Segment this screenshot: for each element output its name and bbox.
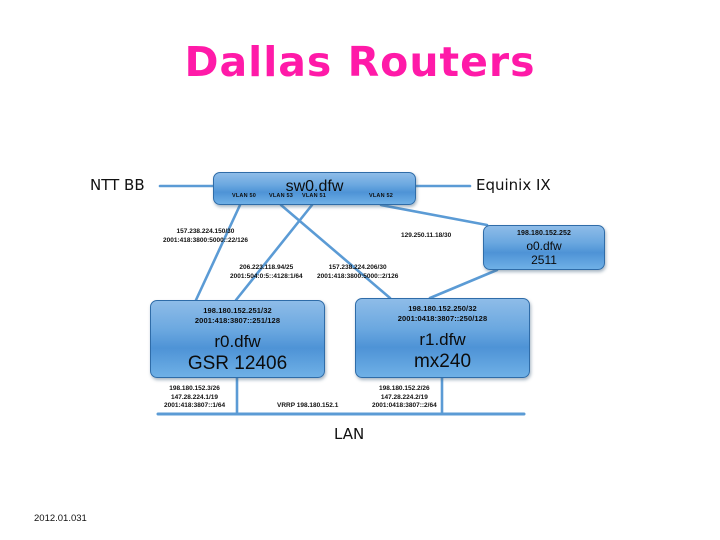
ntt-r1-ipv4: 157.238.224.206/30 <box>317 264 398 273</box>
lan-r1-ipv4-b: 147.28.224.2/19 <box>372 394 437 403</box>
node-router-r1[interactable]: 198.180.152.250/32 2001:0418:3807::250/1… <box>355 298 530 378</box>
vlan-label-51: VLAN 51 <box>302 193 326 199</box>
ntt-r0-ipv6: 2001:418:3800:5000::22/126 <box>163 237 248 246</box>
link-vlan53-r1 <box>281 205 390 298</box>
equinix-r0-ipv6: 2001:504:0:5::4128:1/64 <box>230 273 303 282</box>
r1-ipv6: 2001:0418:3807::250/128 <box>356 314 529 324</box>
lan-r0-ipv6: 2001:418:3807::1/64 <box>164 402 225 411</box>
r1-hostname: r1.dfw <box>356 323 529 350</box>
oob-ip: 198.180.152.252 <box>484 229 604 239</box>
vlan-label-52: VLAN 52 <box>369 193 393 199</box>
link-vlan51-r0 <box>236 205 312 300</box>
link-label-ntt-r0: 157.238.224.150/30 2001:418:3800:5000::2… <box>163 228 248 245</box>
label-lan: LAN <box>334 425 364 443</box>
r0-ipv6: 2001:418:3807::251/128 <box>151 316 324 326</box>
link-vlan52-oob <box>381 205 487 225</box>
node-router-r0[interactable]: 198.180.152.251/32 2001:418:3807::251/12… <box>150 300 325 378</box>
r1-model: mx240 <box>356 350 529 373</box>
vlan-label-53: VLAN 53 <box>269 193 293 199</box>
oob-model: 2511 <box>484 253 604 267</box>
slide-canvas: Dallas Routers sw0.dfw <box>0 0 720 540</box>
link-label-equinix-r0: 206.223.118.94/25 2001:504:0:5::4128:1/6… <box>230 264 303 281</box>
link-oob-r1 <box>430 270 497 298</box>
link-label-lan-r1: 198.180.152.2/26 147.28.224.2/19 2001:04… <box>372 385 437 411</box>
link-label-ntt-oob: 129.250.11.18/30 <box>401 232 451 241</box>
link-label-vrrp: VRRP 198.180.152.1 <box>277 402 338 411</box>
ntt-oob-ipv4: 129.250.11.18/30 <box>401 232 451 241</box>
switch-vlan-labels: VLAN 50 VLAN 53 VLAN 51 VLAN 52 <box>214 193 417 205</box>
node-switch-sw0[interactable]: sw0.dfw VLAN 50 VLAN 53 VLAN 51 VLAN 52 <box>213 172 416 205</box>
label-equinix-ix: Equinix IX <box>476 176 551 194</box>
vlan-label-50: VLAN 50 <box>232 193 256 199</box>
ntt-r1-ipv6: 2001:418:3800:5000::2/126 <box>317 273 398 282</box>
lan-r0-ipv4-b: 147.28.224.1/19 <box>164 394 225 403</box>
label-ntt-backbone: NTT BB <box>90 176 145 194</box>
r0-ipv4: 198.180.152.251/32 <box>151 306 324 316</box>
link-vlan50-r0 <box>196 205 240 300</box>
node-console-o0[interactable]: 198.180.152.252 o0.dfw 2511 <box>483 225 605 270</box>
r0-hostname: r0.dfw <box>151 325 324 352</box>
lan-r1-ipv4: 198.180.152.2/26 <box>372 385 437 394</box>
link-label-ntt-r1: 157.238.224.206/30 2001:418:3800:5000::2… <box>317 264 398 281</box>
r0-model: GSR 12406 <box>151 352 324 375</box>
link-label-lan-r0: 198.180.152.3/26 147.28.224.1/19 2001:41… <box>164 385 225 411</box>
equinix-r0-ipv4: 206.223.118.94/25 <box>230 264 303 273</box>
ntt-r0-ipv4: 157.238.224.150/30 <box>163 228 248 237</box>
lan-r1-ipv6: 2001:0418:3807::2/64 <box>372 402 437 411</box>
r1-ipv4: 198.180.152.250/32 <box>356 304 529 314</box>
slide-footer-date: 2012.01.031 <box>34 513 87 524</box>
lan-r0-ipv4: 198.180.152.3/26 <box>164 385 225 394</box>
oob-hostname: o0.dfw <box>484 239 604 253</box>
